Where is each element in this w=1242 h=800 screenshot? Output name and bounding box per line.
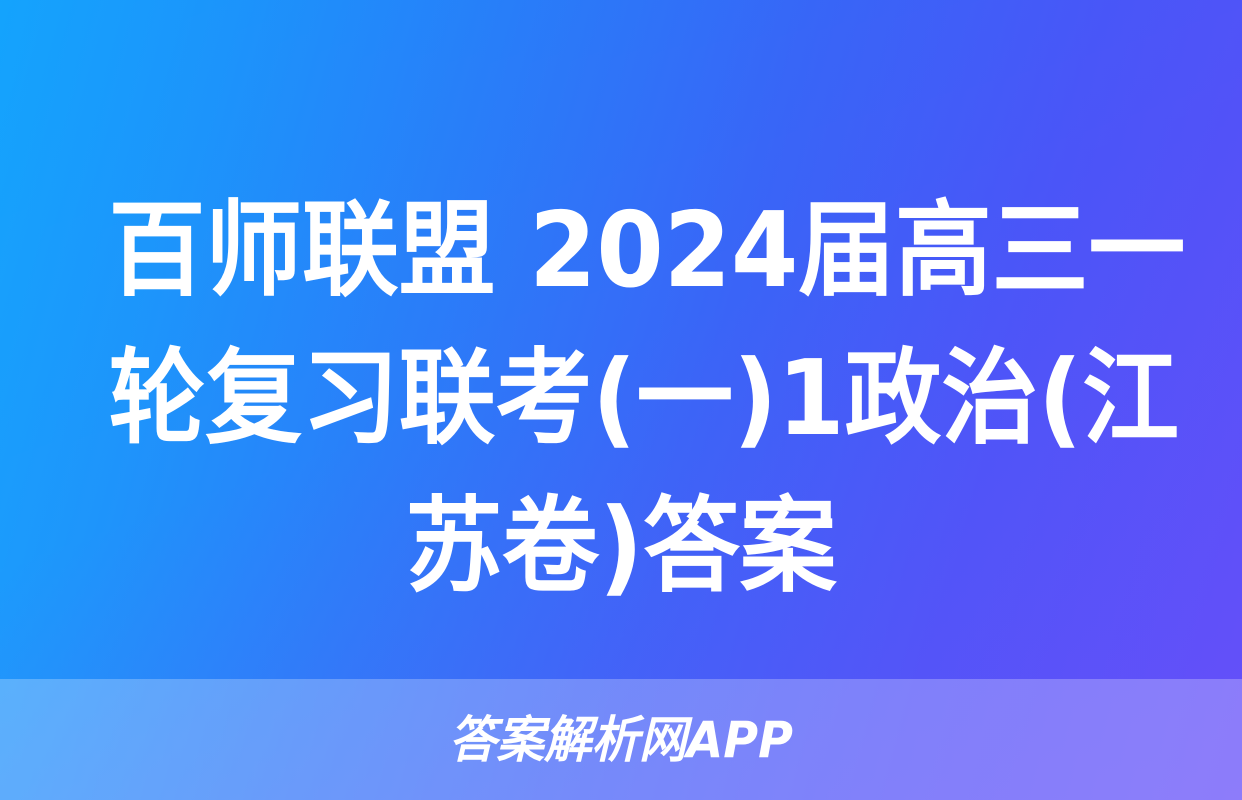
banner-title: 百师联盟 2024届高三一 轮复习联考(一)1政治(江 苏卷)答案: [0, 176, 1242, 620]
title-line-2: 轮复习联考(一)1政治(江: [109, 324, 1134, 472]
title-line-1: 百师联盟 2024届高三一: [109, 176, 1134, 324]
title-line-3: 苏卷)答案: [109, 472, 1134, 620]
footer-watermark-band: 答案解析网APP: [0, 679, 1242, 800]
promo-banner: 百师联盟 2024届高三一 轮复习联考(一)1政治(江 苏卷)答案 答案解析网A…: [0, 0, 1242, 800]
app-watermark-label: 答案解析网APP: [449, 715, 793, 765]
